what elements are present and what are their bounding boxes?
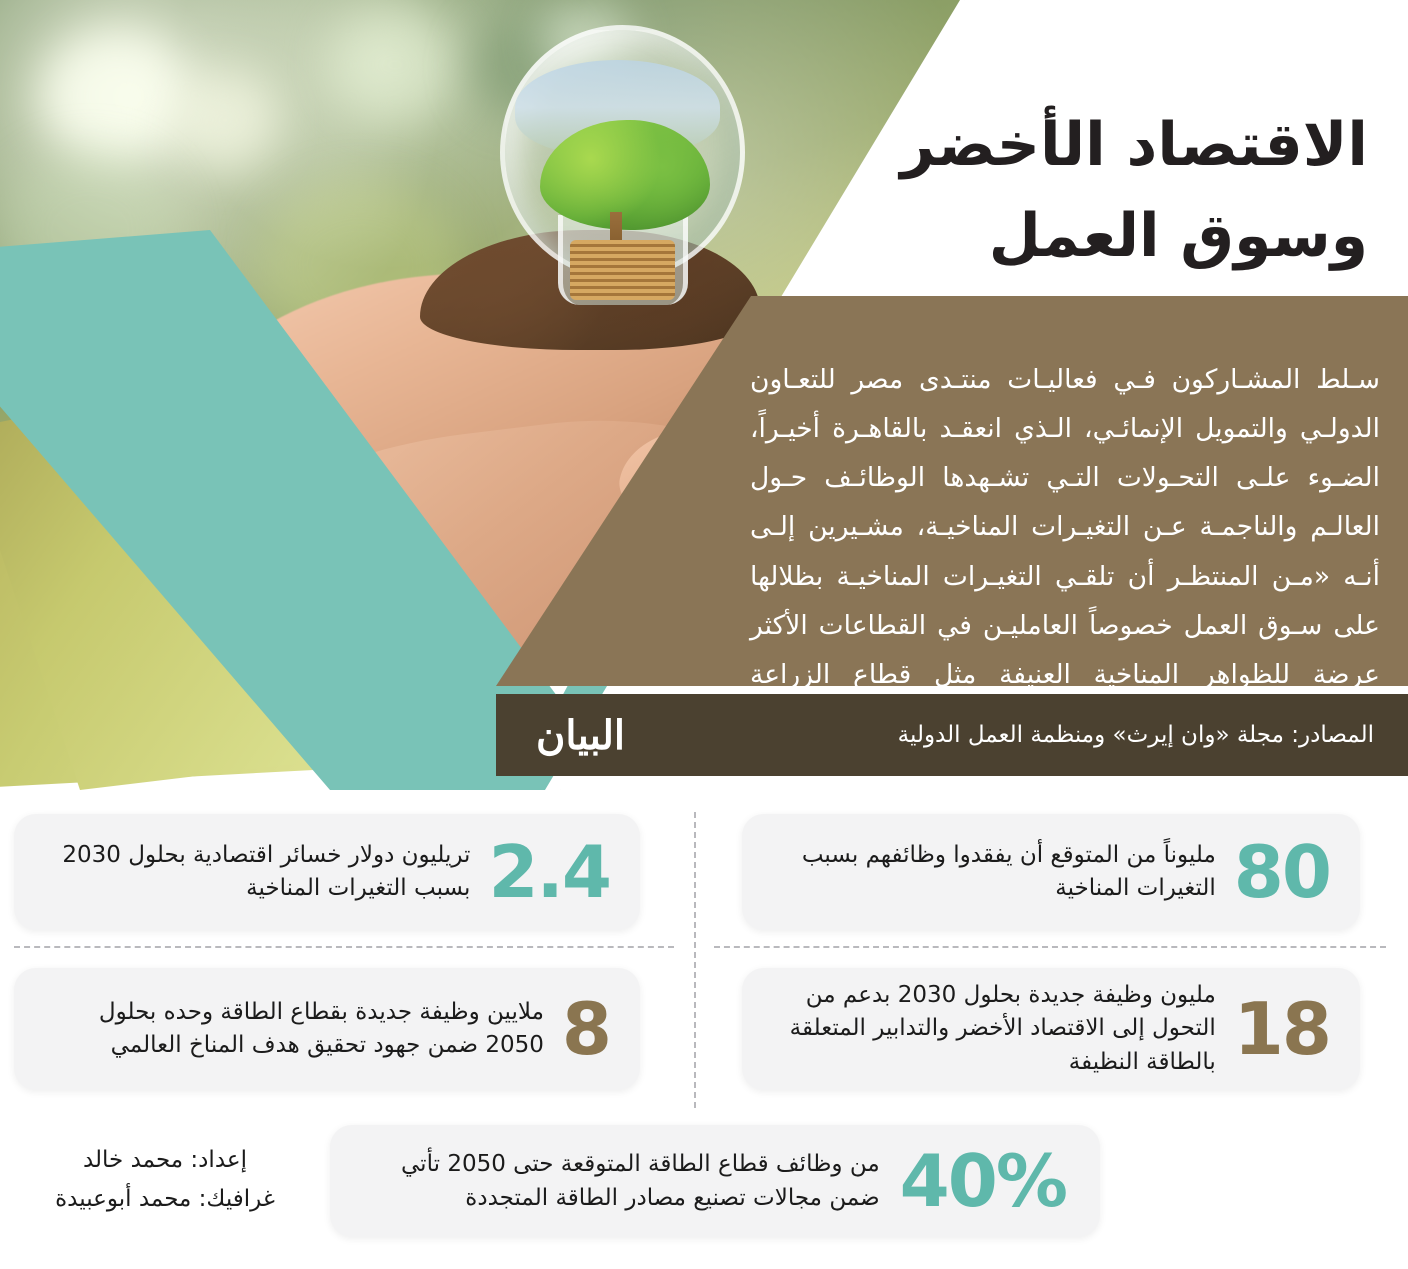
credit-editor: إعداد: محمد خالد	[30, 1141, 300, 1180]
stat-number: 2.4	[470, 836, 616, 908]
infographic-page: الاقتصاد الأخضر وسوق العمل سـلط المشـارك…	[0, 0, 1408, 1269]
stats-grid: 80 مليوناً من المتوقع أن يفقدوا وظائفهم …	[0, 800, 1408, 1120]
credit-graphics: غرافيك: محمد أبوعبيدة	[30, 1180, 300, 1219]
page-title: الاقتصاد الأخضر وسوق العمل	[848, 100, 1368, 282]
stat-card-80: 80 مليوناً من المتوقع أن يفقدوا وظائفهم …	[742, 814, 1360, 930]
header-section: الاقتصاد الأخضر وسوق العمل سـلط المشـارك…	[0, 0, 1408, 790]
page-title-line-2: وسوق العمل	[848, 191, 1368, 282]
source-text: المصادر: مجلة «وان إيرث» ومنظمة العمل ال…	[898, 722, 1374, 748]
vertical-divider	[694, 812, 696, 1108]
intro-paragraph: سـلط المشـاركون فـي فعاليـات منتـدى مصر …	[750, 355, 1380, 749]
stat-description: مليون وظيفة جديدة بحلول 2030 بدعم من الت…	[766, 979, 1216, 1079]
bokeh-blob	[170, 70, 280, 170]
stat-number: 18	[1216, 993, 1336, 1065]
page-title-line-1: الاقتصاد الأخضر	[900, 110, 1368, 180]
horizontal-divider-right	[714, 946, 1386, 948]
stat-card-40-percent: 40% من وظائف قطاع الطاقة المتوقعة حتى 20…	[330, 1125, 1100, 1237]
stat-card-2-4: 2.4 تريليون دولار خسائر اقتصادية بحلول 2…	[14, 814, 640, 930]
source-bar: المصادر: مجلة «وان إيرث» ومنظمة العمل ال…	[496, 694, 1408, 776]
stat-card-18: 18 مليون وظيفة جديدة بحلول 2030 بدعم من …	[742, 968, 1360, 1090]
horizontal-divider-left	[14, 946, 674, 948]
stat-description: تريليون دولار خسائر اقتصادية بحلول 2030 …	[38, 839, 470, 906]
footer-section: 40% من وظائف قطاع الطاقة المتوقعة حتى 20…	[0, 1125, 1408, 1255]
stat-number: 8	[544, 993, 616, 1065]
stat-description: من وظائف قطاع الطاقة المتوقعة حتى 2050 ت…	[358, 1147, 880, 1216]
bokeh-blob	[40, 30, 190, 160]
albayan-logo: البيان	[530, 712, 625, 759]
stat-number: 80	[1216, 836, 1336, 908]
credits-block: إعداد: محمد خالد غرافيك: محمد أبوعبيدة	[30, 1141, 300, 1219]
stat-description: مليوناً من المتوقع أن يفقدوا وظائفهم بسب…	[766, 839, 1216, 906]
bokeh-blob	[330, 10, 460, 120]
coin-stack-icon	[570, 240, 675, 300]
stat-number: 40%	[880, 1145, 1072, 1217]
stat-card-8: 8 ملايين وظيفة جديدة بقطاع الطاقة وحده ب…	[14, 968, 640, 1090]
stat-description: ملايين وظيفة جديدة بقطاع الطاقة وحده بحل…	[38, 996, 544, 1063]
